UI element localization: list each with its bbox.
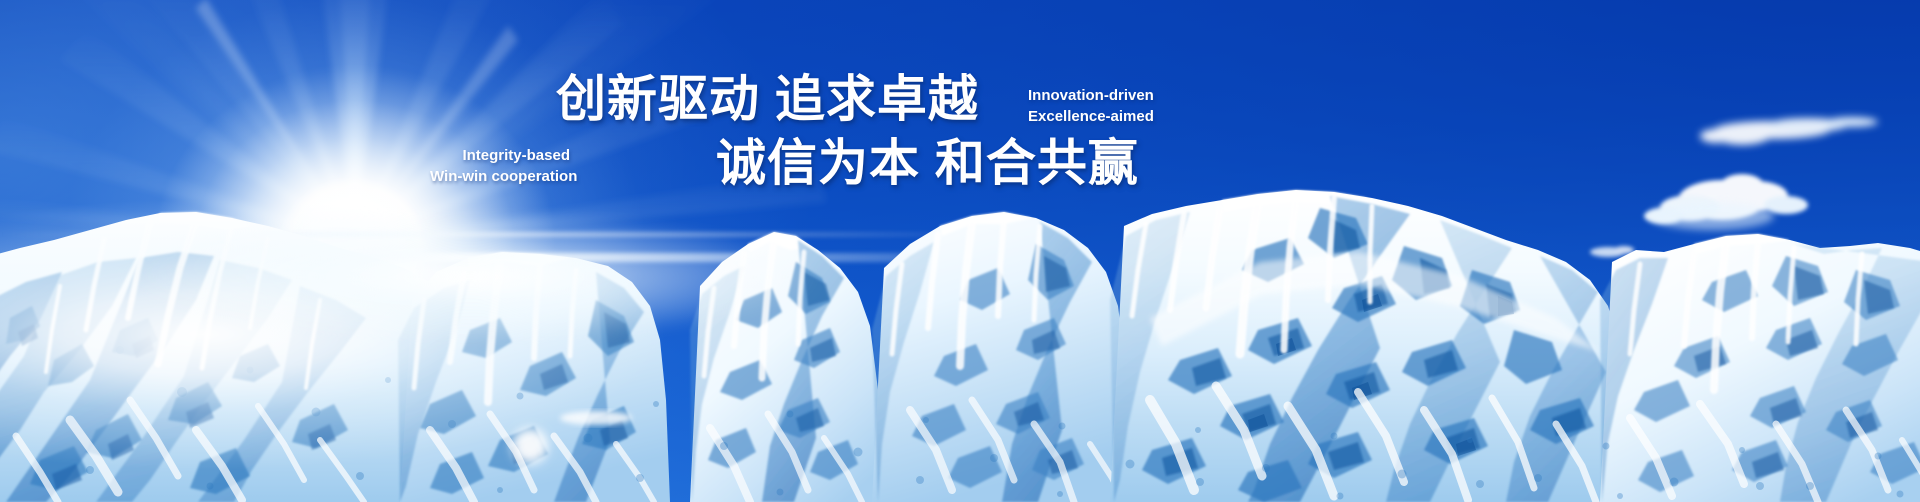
headline-primary: 创新驱动 追求卓越: [556, 72, 979, 126]
tagline-left-line1: Integrity-based: [430, 145, 570, 166]
hero-banner: 创新驱动 追求卓越 诚信为本 和合共赢 Innovation-driven Ex…: [0, 0, 1920, 502]
tagline-right-line1: Innovation-driven: [1028, 85, 1154, 106]
tagline-right: Innovation-driven Excellence-aimed: [1028, 85, 1154, 127]
banner-copy: 创新驱动 追求卓越 诚信为本 和合共赢 Innovation-driven Ex…: [0, 0, 1920, 502]
tagline-left-line2: Win-win cooperation: [430, 166, 570, 187]
tagline-left: Integrity-based Win-win cooperation: [430, 145, 570, 187]
headline-secondary: 诚信为本 和合共赢: [716, 136, 1139, 190]
tagline-right-line2: Excellence-aimed: [1028, 106, 1154, 127]
